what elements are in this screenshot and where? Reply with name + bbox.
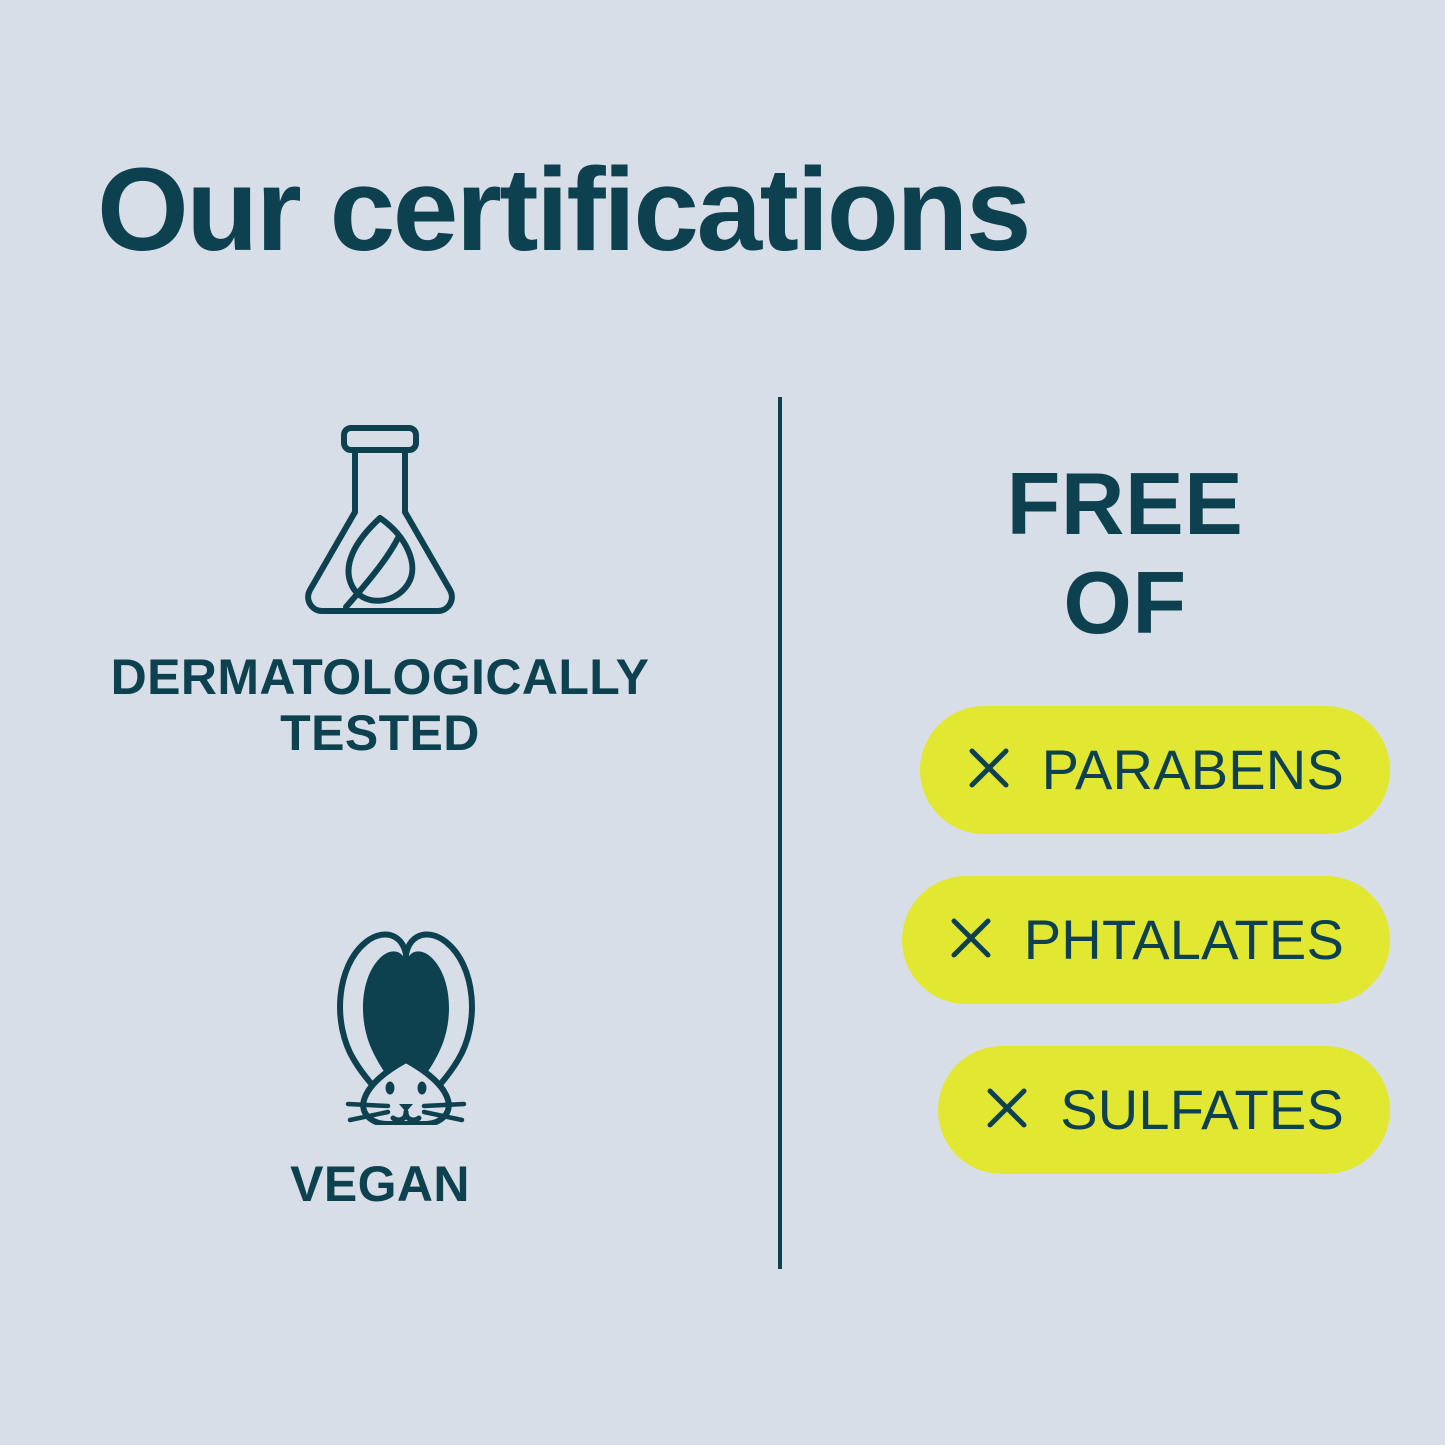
free-of-heading-line2: OF: [860, 554, 1390, 653]
free-of-heading-line1: FREE: [860, 455, 1390, 554]
free-of-item-label: SULFATES: [1060, 1082, 1344, 1138]
flask-leaf-icon: [60, 420, 700, 625]
certification-vegan: VEGAN: [60, 920, 700, 1212]
free-of-heading: FREE OF: [860, 455, 1390, 652]
page-title: Our certifications: [97, 151, 1197, 269]
certifications-poster: Our certifications: [0, 0, 1445, 1445]
free-of-column: FREE OF PARABENS PHTALATES: [860, 455, 1390, 1174]
certification-label-line1: DERMATOLOGICALLY: [111, 649, 650, 705]
certification-label-line2: TESTED: [280, 705, 480, 761]
x-icon: [948, 915, 994, 966]
certification-label: DERMATOLOGICALLY TESTED: [60, 649, 700, 761]
free-of-item-parabens: PARABENS: [920, 706, 1390, 834]
free-of-item-label: PARABENS: [1042, 742, 1344, 798]
x-icon: [966, 745, 1012, 796]
rabbit-heart-ears-icon: [60, 920, 700, 1130]
free-of-item-sulfates: SULFATES: [938, 1046, 1390, 1174]
certification-label: VEGAN: [60, 1156, 700, 1212]
certifications-column: DERMATOLOGICALLY TESTED: [60, 420, 700, 1250]
free-of-item-label: PHTALATES: [1024, 912, 1344, 968]
free-of-item-phtalates: PHTALATES: [902, 876, 1390, 1004]
free-of-list: PARABENS PHTALATES SULFATES: [860, 706, 1390, 1174]
certification-dermatologically-tested: DERMATOLOGICALLY TESTED: [60, 420, 700, 761]
x-icon: [984, 1085, 1030, 1136]
column-divider: [778, 397, 782, 1269]
certification-label-line1: VEGAN: [290, 1156, 470, 1212]
